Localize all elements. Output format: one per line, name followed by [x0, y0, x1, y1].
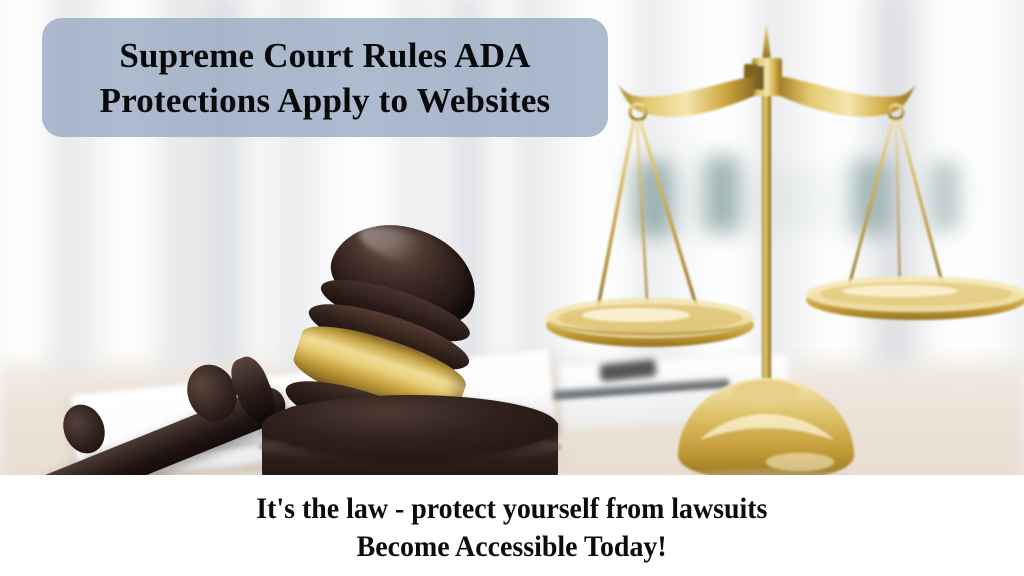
hero-photo: Supreme Court Rules ADA Protections Appl… [0, 0, 1024, 475]
caption-line-1: It's the law - protect yourself from law… [256, 490, 767, 528]
headline-banner: Supreme Court Rules ADA Protections Appl… [42, 18, 608, 137]
sound-block-top [262, 395, 558, 457]
caption-band: It's the law - protect yourself from law… [0, 475, 1024, 576]
headline-line-2: Protections Apply to Websites [100, 78, 551, 123]
caption-line-2: Become Accessible Today! [357, 528, 667, 566]
headline-line-1: Supreme Court Rules ADA [119, 33, 530, 78]
ada-announcement-banner: Supreme Court Rules ADA Protections Appl… [0, 0, 1024, 576]
